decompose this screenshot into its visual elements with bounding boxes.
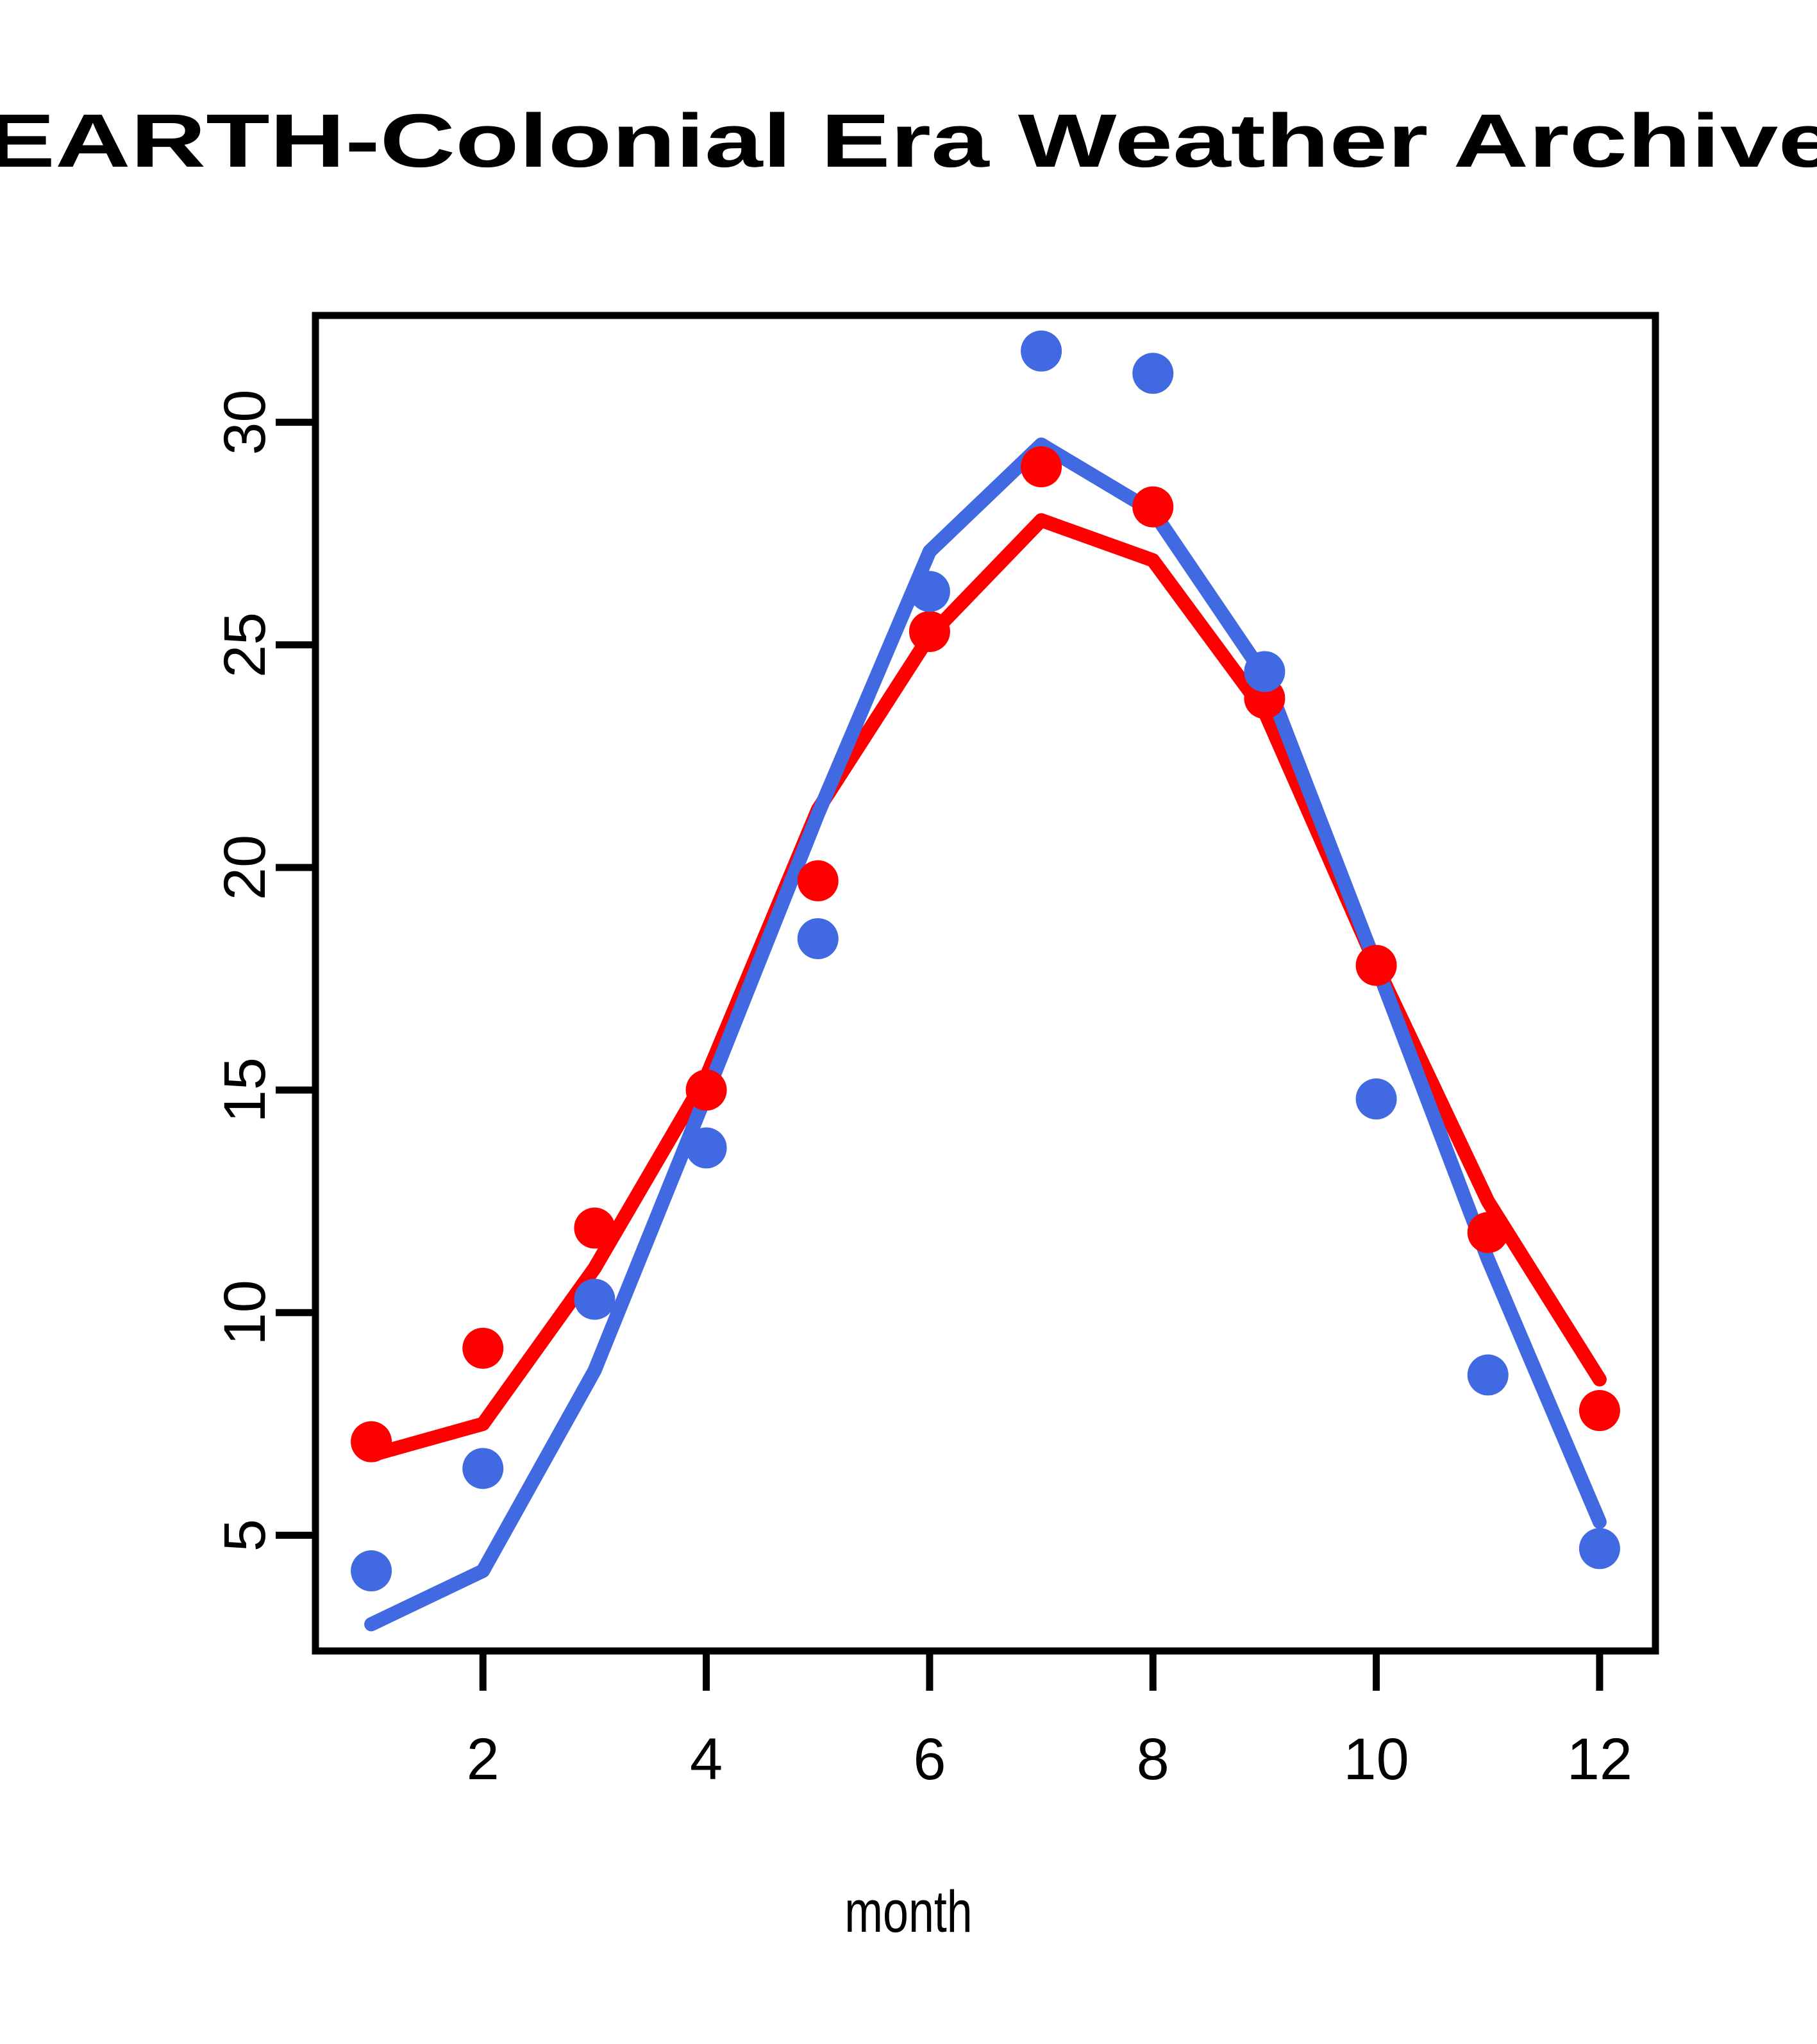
series-points [351,331,1620,1591]
data-point [686,1069,727,1110]
data-point [1579,1528,1620,1569]
data-point [1021,446,1062,487]
y-axis-tick-labels: 51015202530 [212,389,278,1552]
data-point [1356,1078,1397,1119]
x-tick-label: 6 [913,1727,946,1792]
x-axis-tick-labels: 24681012 [467,1727,1632,1792]
y-tick-label: 5 [212,1519,278,1552]
data-point [1244,651,1285,692]
data-point [1468,1355,1509,1396]
data-point [1579,1390,1620,1431]
y-tick-label: 25 [212,612,278,678]
data-point [574,1207,615,1248]
chart-canvas: 51015202530 24681012 [0,0,1817,2044]
x-tick-label: 2 [467,1727,499,1792]
data-point [1356,945,1397,986]
y-tick-label: 10 [212,1280,278,1345]
series-line-red-line [371,520,1600,1455]
data-point [574,1278,615,1319]
plot-frame [315,315,1655,1651]
data-point [909,571,950,612]
y-axis-ticks [276,423,315,1536]
series-lines [371,444,1600,1624]
y-tick-label: 20 [212,835,278,900]
x-tick-label: 8 [1137,1727,1169,1792]
data-point [1132,353,1173,394]
data-point [351,1421,392,1462]
chart-page: ELEY_EARTH-Colonial Era Weather Archive_… [0,0,1817,2044]
data-point [909,611,950,652]
data-point [1468,1212,1509,1253]
x-tick-label: 12 [1567,1727,1632,1792]
data-point [798,860,839,901]
data-point [462,1448,503,1489]
x-tick-label: 10 [1343,1727,1409,1792]
y-tick-label: 30 [212,389,278,455]
data-point [1021,331,1062,372]
x-axis-ticks [483,1651,1600,1691]
data-point [686,1127,727,1168]
data-point [798,918,839,959]
y-tick-label: 15 [212,1057,278,1123]
data-point [1132,487,1173,528]
x-tick-label: 4 [690,1727,723,1792]
data-point [351,1550,392,1591]
x-axis-label: month [200,1879,1618,1946]
data-point [462,1328,503,1369]
